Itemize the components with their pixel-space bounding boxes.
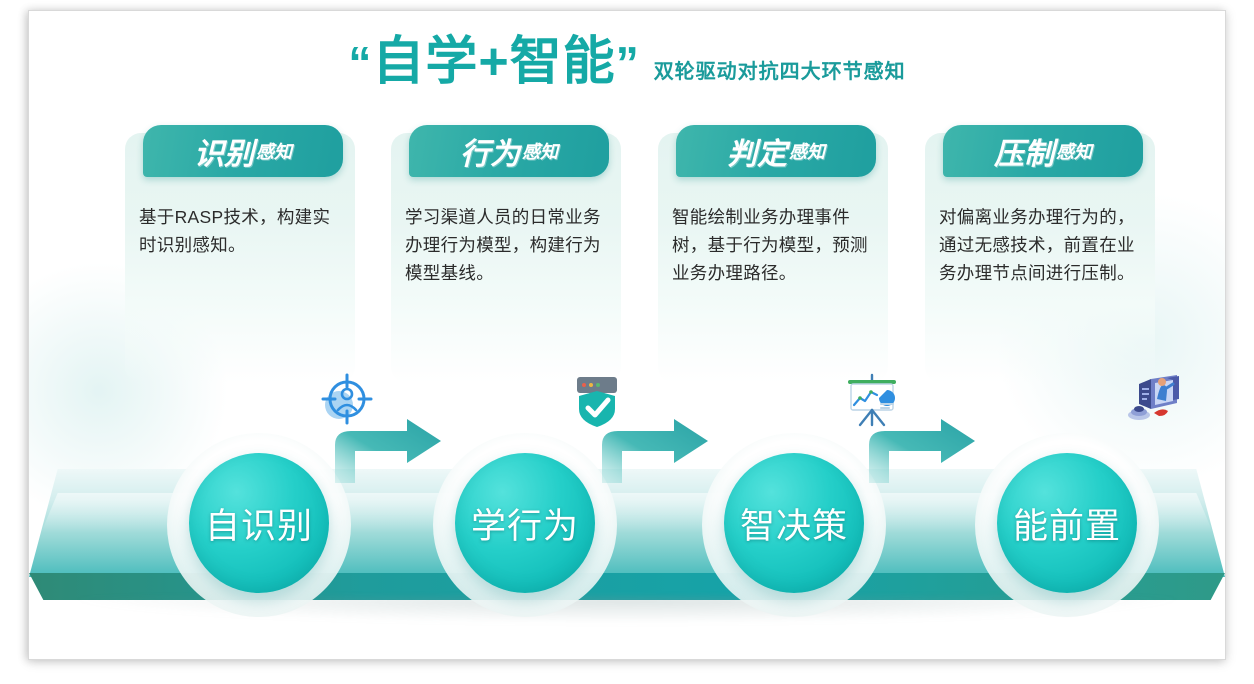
step-column-2: 行为 感知 学习渠道人员的日常业务办理行为模型，构建行为模型基线。 学行为 <box>391 133 621 383</box>
node-label-3: 智决策 <box>740 498 848 549</box>
page-subtitle: 双轮驱动对抗四大环节感知 <box>654 55 906 92</box>
node-label-4: 能前置 <box>1013 498 1121 549</box>
card-badge-3-suffix: 感知 <box>789 138 825 164</box>
arrow-step-3-to-4 <box>863 419 979 483</box>
card-badge-4-suffix: 感知 <box>1056 138 1092 164</box>
page-title-text: 自学+智能 <box>372 33 615 91</box>
card-badge-1-suffix: 感知 <box>256 138 292 164</box>
title-row: “自学+智能” 双轮驱动对抗四大环节感知 <box>29 33 1225 92</box>
card-badge-4: 压制 感知 <box>943 125 1143 177</box>
arrow-step-2-to-3 <box>596 419 712 483</box>
step-column-1: 识别 感知 基于RASP技术，构建实时识别感知。 自识别 <box>125 133 355 383</box>
node-label-1: 自识别 <box>205 498 313 549</box>
node-circle-2: 学行为 <box>433 433 617 617</box>
node-circle-4: 能前置 <box>975 433 1159 617</box>
info-card-4: 压制 感知 对偏离业务办理行为的，通过无感技术，前置在业务办理节点间进行压制。 <box>925 133 1155 383</box>
person-monitor-icon <box>1121 369 1185 431</box>
arrow-step-1-to-2 <box>329 419 445 483</box>
card-body-2: 学习渠道人员的日常业务办理行为模型，构建行为模型基线。 <box>405 203 611 287</box>
card-badge-1-title: 识别 <box>194 129 254 173</box>
card-body-4: 对偏离业务办理行为的，通过无感技术，前置在业务办理节点间进行压制。 <box>939 203 1145 287</box>
quote-open: “ <box>348 37 372 89</box>
card-body-3: 智能绘制业务办理事件树，基于行为模型，预测业务办理路径。 <box>672 203 878 287</box>
card-body-1: 基于RASP技术，构建实时识别感知。 <box>139 203 345 259</box>
card-badge-3-title: 判定 <box>727 129 787 173</box>
quote-close: ” <box>616 37 640 89</box>
node-ball-2: 学行为 <box>455 453 595 593</box>
card-badge-2-suffix: 感知 <box>522 138 558 164</box>
card-badge-4-title: 压制 <box>994 129 1054 173</box>
node-circle-3: 智决策 <box>702 433 886 617</box>
node-label-2: 学行为 <box>471 498 579 549</box>
node-ball-4: 能前置 <box>997 453 1137 593</box>
card-badge-2-title: 行为 <box>460 129 520 173</box>
card-badge-2: 行为 感知 <box>409 125 609 177</box>
slide-canvas: “自学+智能” 双轮驱动对抗四大环节感知 识别 感知 基于RASP技术，构建实时… <box>28 10 1226 660</box>
card-badge-1: 识别 感知 <box>143 125 343 177</box>
node-ball-3: 智决策 <box>724 453 864 593</box>
info-card-3: 判定 感知 智能绘制业务办理事件树，基于行为模型，预测业务办理路径。 <box>658 133 888 383</box>
step-column-3: 判定 感知 智能绘制业务办理事件树，基于行为模型，预测业务办理路径。 <box>658 133 888 383</box>
node-circle-1: 自识别 <box>167 433 351 617</box>
node-ball-1: 自识别 <box>189 453 329 593</box>
step-column-4: 压制 感知 对偏离业务办理行为的，通过无感技术，前置在业务办理节点间进行压制。 <box>925 133 1155 383</box>
card-badge-3: 判定 感知 <box>676 125 876 177</box>
info-card-2: 行为 感知 学习渠道人员的日常业务办理行为模型，构建行为模型基线。 <box>391 133 621 383</box>
info-card-1: 识别 感知 基于RASP技术，构建实时识别感知。 <box>125 133 355 383</box>
page-title: “自学+智能” <box>348 33 639 92</box>
